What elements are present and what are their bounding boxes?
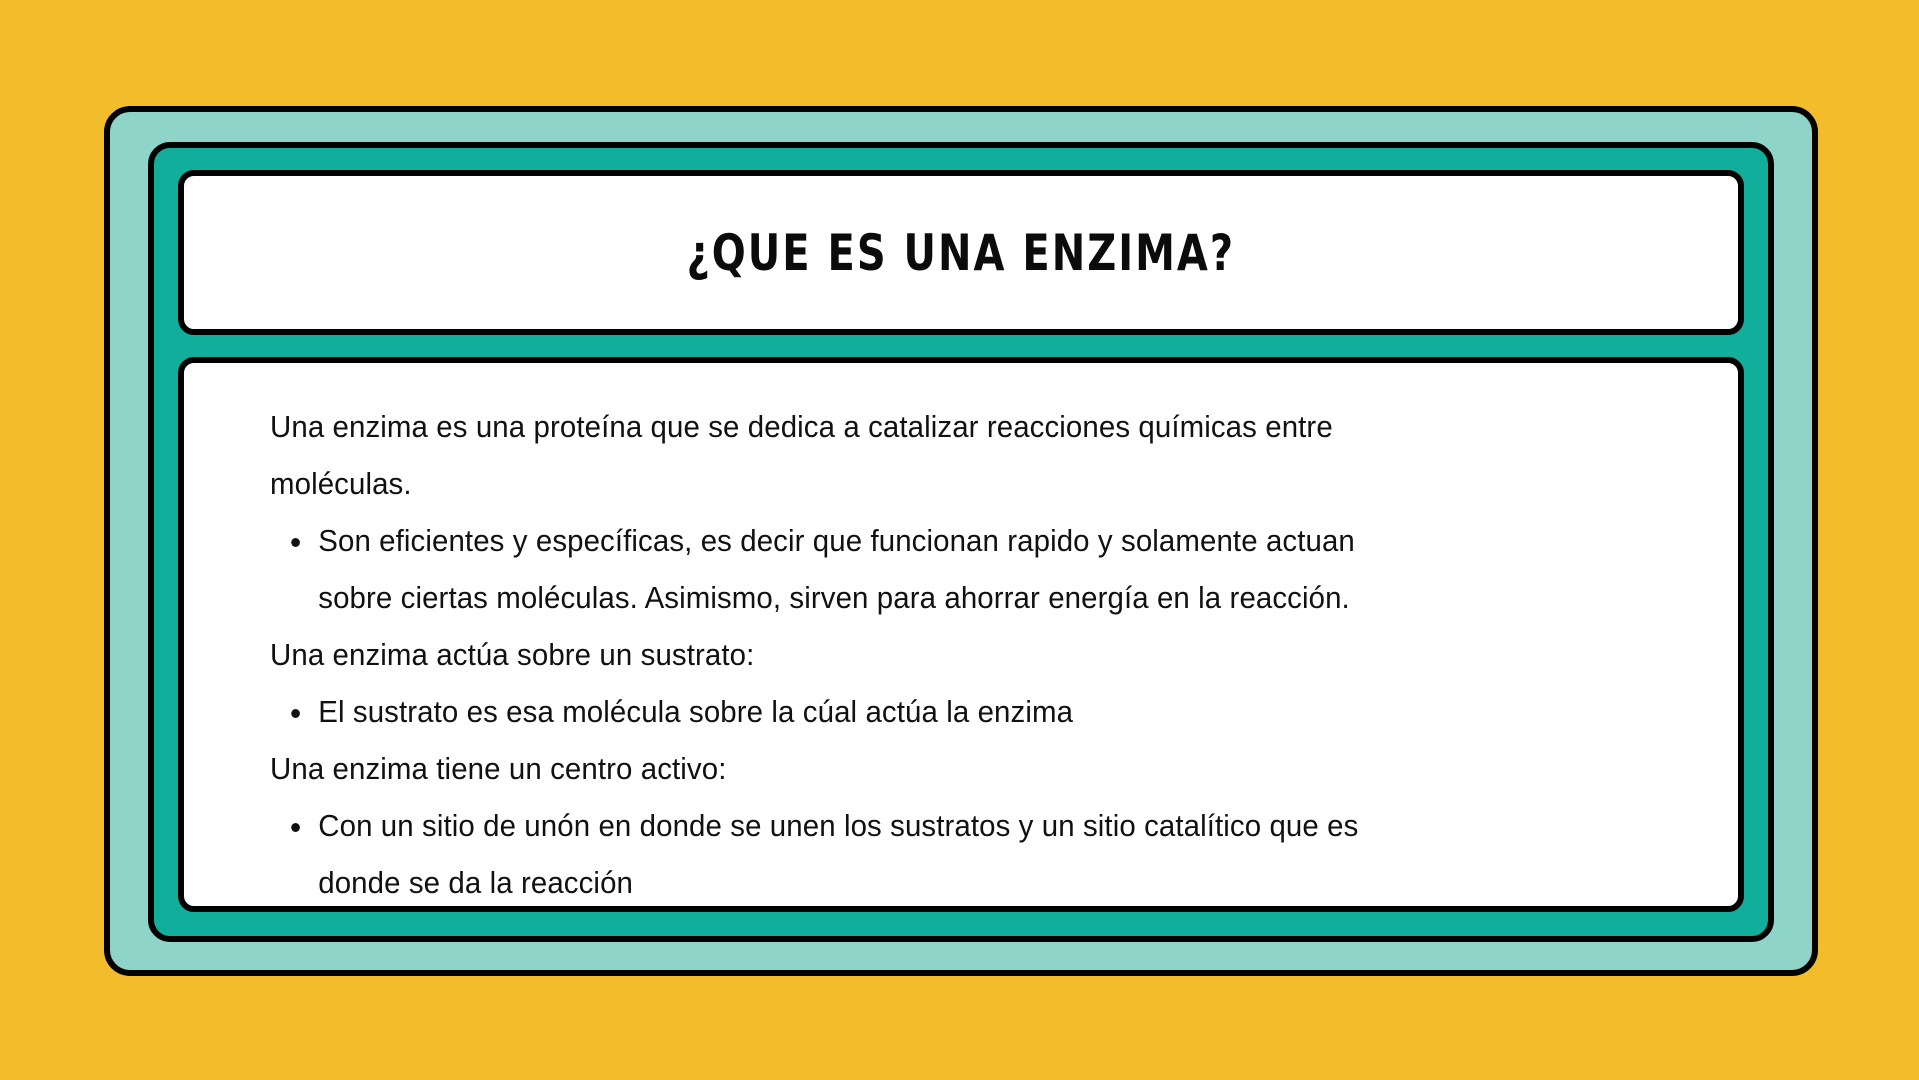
line-text: donde se da la reacción: [318, 866, 633, 900]
line-text: sobre ciertas moléculas. Asimismo, sirve…: [318, 581, 1350, 615]
bullet-line: El sustrato es esa molécula sobre la cúa…: [270, 684, 1631, 741]
line-text: Una enzima es una proteína que se dedica…: [270, 410, 1333, 444]
bullet-line: Con un sitio de unón en donde se unen lo…: [270, 798, 1631, 855]
body-card: Una enzima es una proteína que se dedica…: [178, 357, 1744, 912]
bullet-dot-icon: [291, 709, 300, 718]
bullet-line-continuation: sobre ciertas moléculas. Asimismo, sirve…: [270, 570, 1631, 627]
line-text: Son eficientes y específicas, es decir q…: [318, 524, 1355, 558]
page-title: ¿QUE ES UNA ENZIMA?: [687, 228, 1236, 278]
line-text: El sustrato es esa molécula sobre la cúa…: [318, 695, 1073, 729]
body-text-list: Una enzima es una proteína que se dedica…: [270, 399, 1680, 912]
slide-canvas: ¿QUE ES UNA ENZIMA? Una enzima es una pr…: [0, 0, 1919, 1080]
bullet-line: Son eficientes y específicas, es decir q…: [270, 513, 1631, 570]
paragraph-line: Una enzima actúa sobre un sustrato:: [270, 627, 1631, 684]
paragraph-line: moléculas.: [270, 456, 1631, 513]
paragraph-line: Una enzima tiene un centro activo:: [270, 741, 1631, 798]
line-text: Con un sitio de unón en donde se unen lo…: [318, 809, 1358, 843]
line-text: moléculas.: [270, 467, 412, 501]
line-text: Una enzima tiene un centro activo:: [270, 752, 726, 786]
line-text: Una enzima actúa sobre un sustrato:: [270, 638, 754, 672]
inner-frame: ¿QUE ES UNA ENZIMA? Una enzima es una pr…: [148, 142, 1774, 942]
paragraph-line: Una enzima es una proteína que se dedica…: [270, 399, 1631, 456]
bullet-dot-icon: [291, 823, 300, 832]
bullet-dot-icon: [291, 538, 300, 547]
outer-frame: ¿QUE ES UNA ENZIMA? Una enzima es una pr…: [104, 106, 1818, 976]
bullet-line-continuation: donde se da la reacción: [270, 855, 1631, 912]
title-card: ¿QUE ES UNA ENZIMA?: [178, 170, 1744, 335]
